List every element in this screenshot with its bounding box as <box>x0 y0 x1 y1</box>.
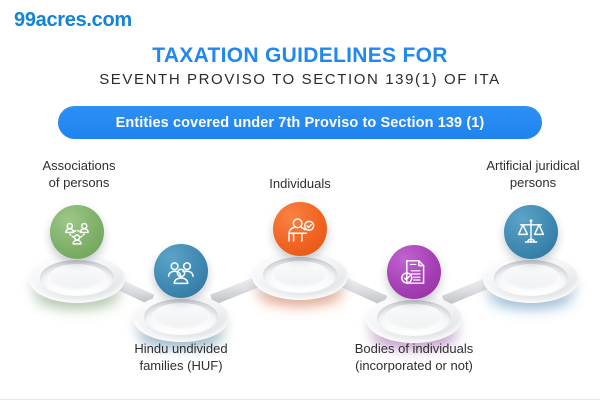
node-label-associations-of-persons: Associations of persons <box>4 157 154 191</box>
node-label-hindu-undivided-families: Hindu undivided families (HUF) <box>91 340 271 374</box>
pedestal-ring-inner <box>152 303 210 330</box>
page-subtitle: SEVENTH PROVISO TO SECTION 139(1) OF ITA <box>0 71 600 88</box>
people-network-icon <box>60 215 94 249</box>
pedestal-ring-inner <box>385 304 443 331</box>
pedestal-ring-inner <box>48 264 106 291</box>
node-label-bodies-of-individuals: Bodies of individuals (incorporated or n… <box>314 340 514 374</box>
node-bubble-individuals[interactable] <box>273 202 327 256</box>
group-of-people-icon <box>165 255 197 287</box>
pedestal-ring-inner <box>502 264 560 291</box>
person-check-icon <box>284 213 317 246</box>
infographic-canvas: 99acres.com TAXATION GUIDELINES FOR SEVE… <box>0 0 600 400</box>
node-label-individuals: Individuals <box>220 175 380 192</box>
node-bubble-associations-of-persons[interactable] <box>50 205 104 259</box>
entities-banner-label: Entities covered under 7th Proviso to Se… <box>116 115 485 131</box>
node-bubble-artificial-juridical-persons[interactable] <box>504 205 558 259</box>
node-bubble-bodies-of-individuals[interactable] <box>387 245 441 299</box>
node-label-artificial-juridical-persons: Artificial juridical persons <box>448 157 600 191</box>
entities-banner: Entities covered under 7th Proviso to Se… <box>58 106 542 139</box>
scales-of-justice-icon <box>515 216 547 248</box>
page-title: TAXATION GUIDELINES FOR <box>0 44 600 68</box>
tax-document-check-icon <box>398 256 430 288</box>
node-bubble-hindu-undivided-families[interactable] <box>154 244 208 298</box>
brand-logo: 99acres.com <box>14 9 132 32</box>
pedestal-ring-inner <box>271 261 329 288</box>
